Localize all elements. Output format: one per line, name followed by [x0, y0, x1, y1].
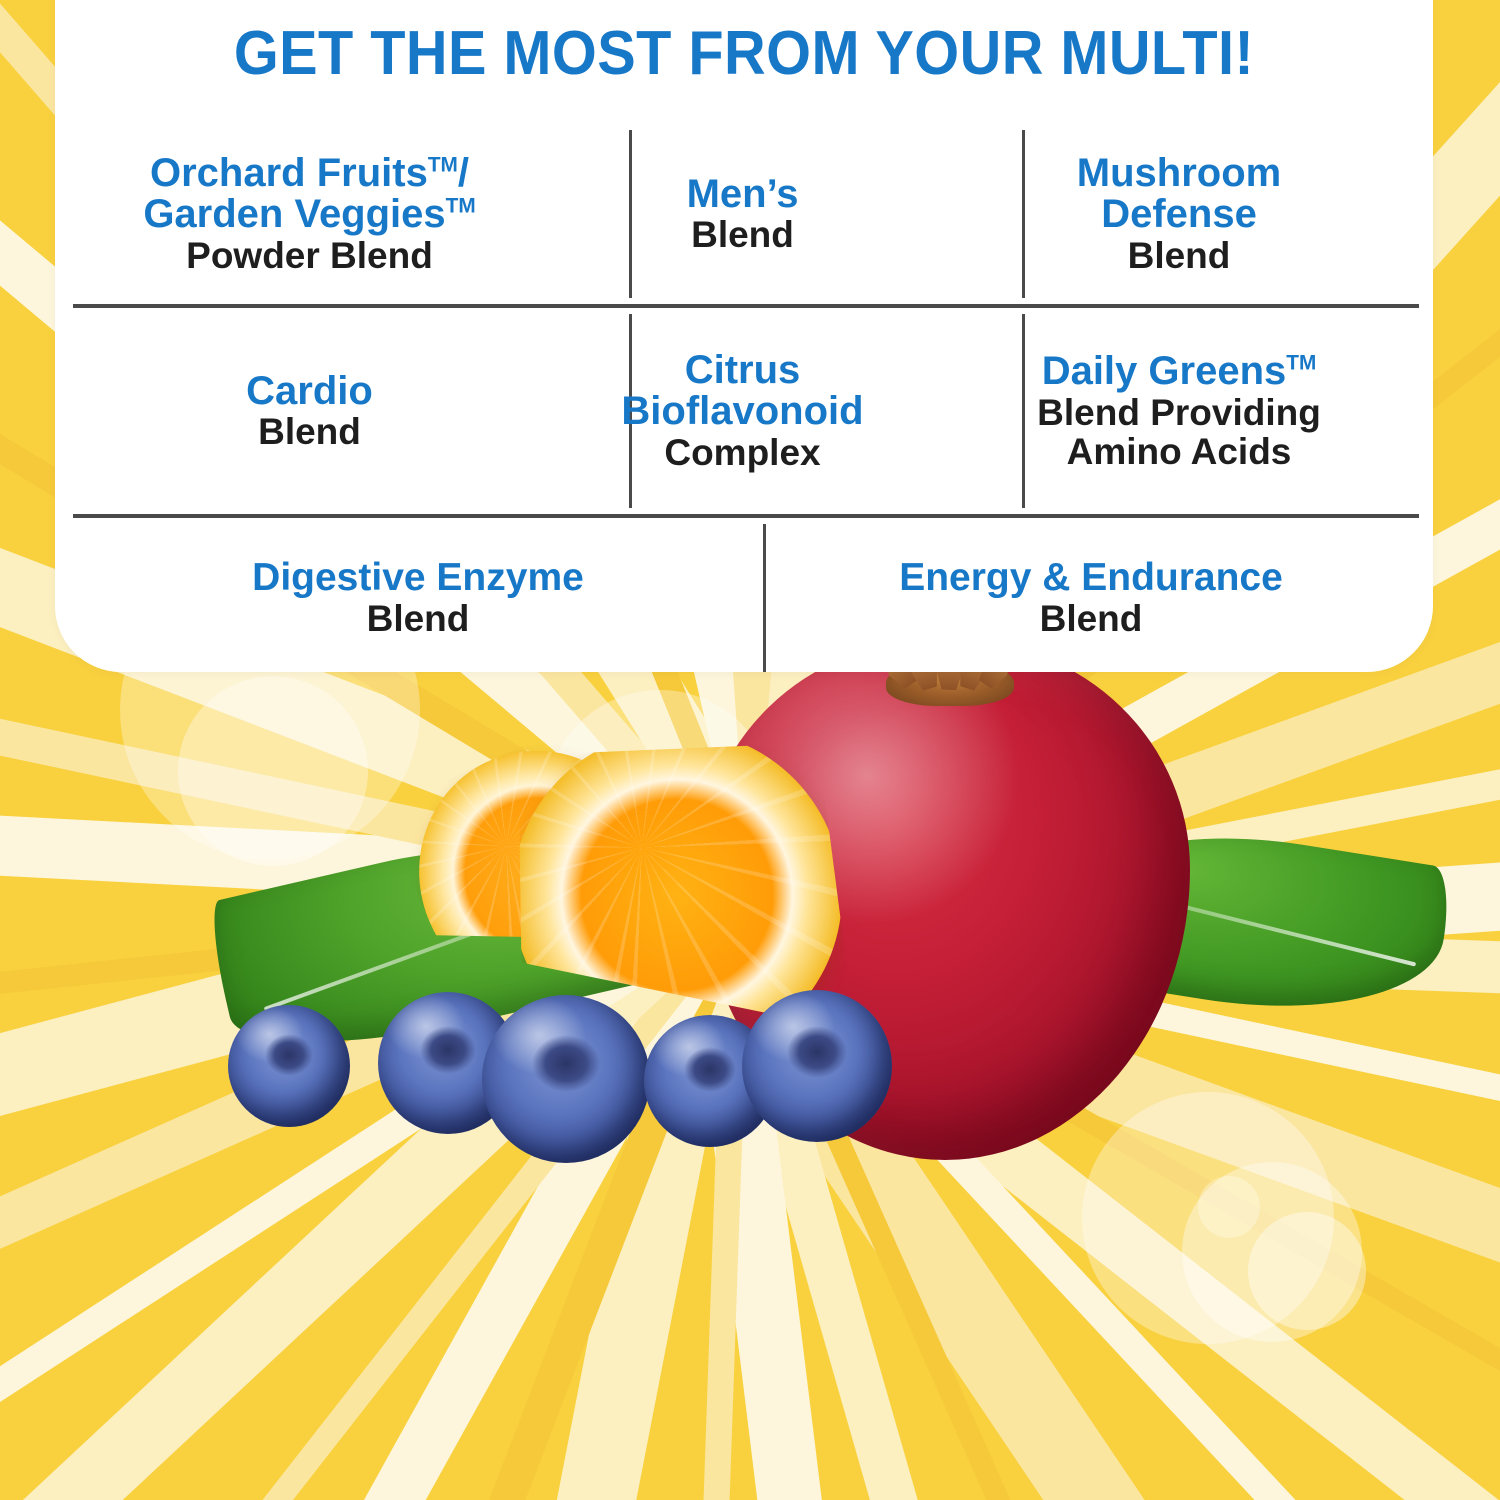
energy-endurance-label: Energy & Endurance [899, 558, 1283, 599]
blueberry [228, 1005, 350, 1127]
daily-greens-text: Daily Greens [1042, 349, 1287, 393]
garden-veggies-label: Garden Veggies [143, 192, 445, 236]
blend-row-1: Orchard FruitsTM/ Garden VeggiesTM Powde… [73, 124, 1419, 304]
blend-cell-energy-endurance[interactable]: Energy & Endurance Blend [763, 518, 1419, 672]
blueberry [482, 995, 650, 1163]
blend-cell-digestive-enzyme[interactable]: Digestive Enzyme Blend [73, 518, 763, 672]
digestive-enzyme-label: Digestive Enzyme [252, 558, 584, 599]
mens-blend-sublabel: Blend [691, 215, 794, 254]
cardio-blend-sublabel: Blend [258, 412, 361, 451]
complex-sublabel: Complex [664, 433, 820, 472]
daily-greens-label: Daily GreensTM [1042, 351, 1317, 393]
energy-blend-sublabel: Blend [1040, 599, 1143, 638]
amino-acids-label: Amino Acids [1067, 432, 1292, 471]
page-title: GET THE MOST FROM YOUR MULTI! [103, 18, 1385, 89]
mushroom-blend-sublabel: Blend [1128, 236, 1231, 275]
trademark-symbol: TM [1286, 352, 1316, 375]
blend-cell-mens[interactable]: Men’s Blend [546, 124, 939, 304]
orchard-fruits-label: Orchard Fruits [150, 151, 428, 195]
blend-cell-cardio[interactable]: Cardio Blend [73, 308, 546, 514]
cardio-label: Cardio [246, 371, 373, 413]
blend-providing-label: Blend Providing [1037, 393, 1321, 432]
citrus-label: Citrus [685, 350, 801, 392]
slash-separator: / [458, 151, 469, 195]
digestive-blend-sublabel: Blend [367, 599, 470, 638]
blend-cell-daily-greens[interactable]: Daily GreensTM Blend Providing Amino Aci… [939, 308, 1419, 514]
bioflavonoid-label: Bioflavonoid [621, 391, 863, 433]
mushroom-label: Mushroom [1077, 153, 1281, 195]
blend-info-card: GET THE MOST FROM YOUR MULTI! Orchard Fr… [55, 0, 1433, 672]
blend-row-3: Digestive Enzyme Blend Energy & Enduranc… [73, 518, 1419, 672]
blend-cell-mushroom-defense[interactable]: Mushroom Defense Blend [939, 124, 1419, 304]
produce-artwork [0, 600, 1500, 1240]
blend-row-2: Cardio Blend Citrus Bioflavonoid Complex… [73, 308, 1419, 514]
blueberry [742, 990, 892, 1142]
defense-label: Defense [1101, 194, 1257, 236]
blend-cell-citrus-bioflavonoid[interactable]: Citrus Bioflavonoid Complex [546, 308, 939, 514]
trademark-symbol: TM [428, 153, 458, 176]
mens-label: Men’s [687, 174, 799, 216]
powder-blend-label: Powder Blend [186, 236, 433, 275]
blend-cell-orchard-fruits-garden-veggies[interactable]: Orchard FruitsTM/ Garden VeggiesTM Powde… [73, 124, 546, 304]
trademark-symbol: TM [446, 195, 476, 218]
blend-grid: Orchard FruitsTM/ Garden VeggiesTM Powde… [73, 124, 1419, 672]
